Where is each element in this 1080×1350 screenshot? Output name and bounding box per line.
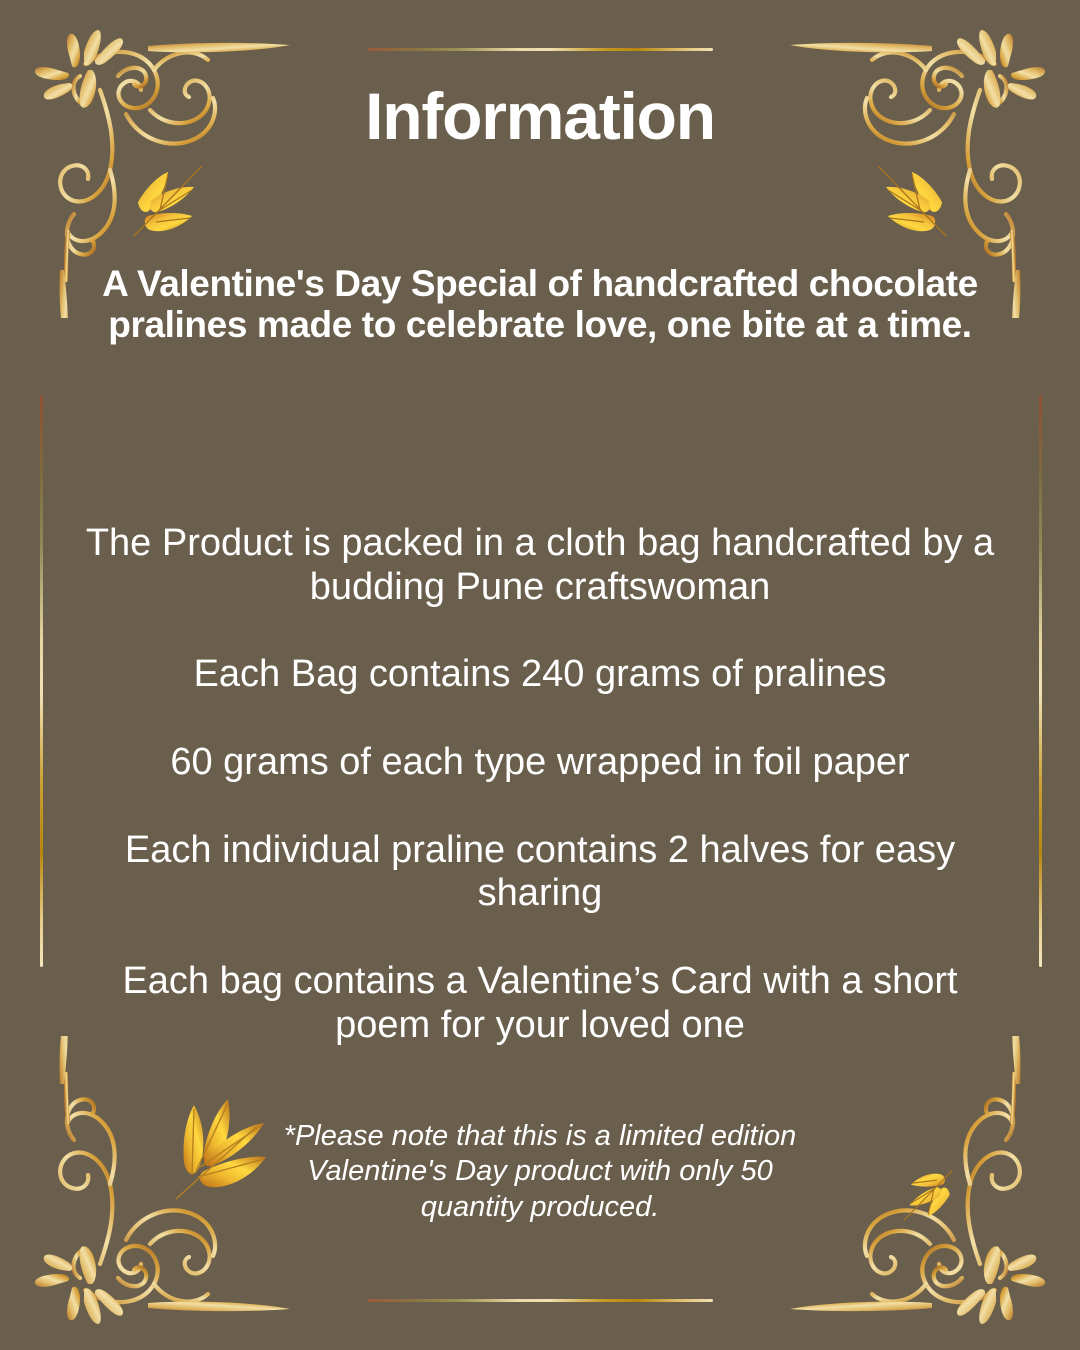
page-title: Information: [0, 82, 1080, 152]
information-poster: Information A Valentine's Day Special of…: [0, 0, 1080, 1350]
leaf-sprig-icon: [160, 1085, 290, 1210]
divider-line-bottom: [368, 1299, 713, 1302]
list-item: Each Bag contains 240 grams of pralines: [75, 653, 1005, 697]
details-list: The Product is packed in a cloth bag han…: [75, 522, 1005, 1048]
divider-line-right: [1039, 395, 1042, 967]
subtitle-text: A Valentine's Day Special of handcrafted…: [90, 263, 990, 346]
list-item: Each individual praline contains 2 halve…: [75, 829, 1005, 916]
divider-line-left: [40, 395, 43, 967]
list-item: Each bag contains a Valentine’s Card wit…: [75, 960, 1005, 1047]
footnote-text: *Please note that this is a limited edit…: [280, 1119, 800, 1225]
corner-flourish-bottom-left-icon: [22, 1036, 322, 1336]
corner-flourish-bottom-right-icon: [758, 1036, 1058, 1336]
list-item: The Product is packed in a cloth bag han…: [75, 522, 1005, 609]
divider-line-top: [368, 48, 713, 51]
list-item: 60 grams of each type wrapped in foil pa…: [75, 741, 1005, 785]
